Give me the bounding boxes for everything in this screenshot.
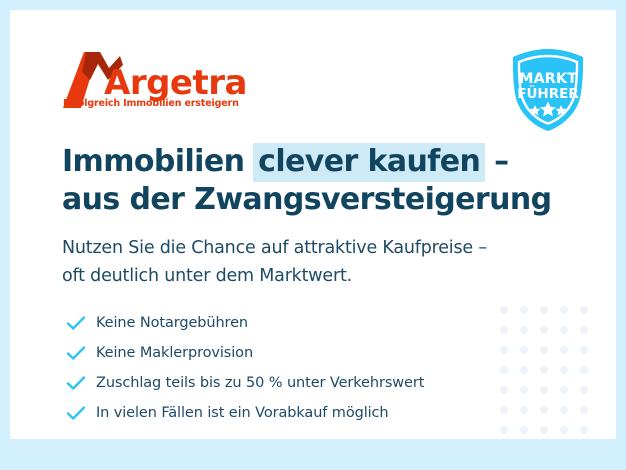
- headline-text-after: –: [484, 144, 508, 179]
- market-leader-badge: MARKT FÜHRER: [504, 46, 592, 134]
- headline-line-2: aus der Zwangsversteigerung: [62, 181, 552, 219]
- decorative-dot: [560, 406, 568, 414]
- decorative-dot: [580, 326, 588, 334]
- decorative-dot: [540, 386, 548, 394]
- decorative-dot: [580, 426, 588, 434]
- subheadline-line-2: oft deutlich unter dem Marktwert.: [62, 262, 487, 290]
- decorative-dot: [540, 326, 548, 334]
- list-item-label: Keine Maklerprovision: [92, 345, 253, 361]
- list-item: Zuschlag teils bis zu 50 % unter Verkehr…: [66, 368, 506, 398]
- decorative-dot: [540, 366, 548, 374]
- decorative-dot: [560, 326, 568, 334]
- decorative-dot: [520, 346, 528, 354]
- list-item: In vielen Fällen ist ein Vorabkauf mögli…: [66, 398, 506, 428]
- decorative-dot: [580, 386, 588, 394]
- check-icon: [66, 372, 92, 394]
- dot-grid-decoration: [500, 306, 616, 439]
- banner-card: Argetra Erfolgreich Immobilien ersteiger…: [10, 10, 616, 439]
- decorative-dot: [520, 406, 528, 414]
- decorative-dot: [520, 426, 528, 434]
- shield-icon: MARKT FÜHRER: [504, 46, 592, 134]
- headline-highlight: clever kaufen: [253, 143, 485, 182]
- list-item-label: In vielen Fällen ist ein Vorabkauf mögli…: [92, 405, 389, 421]
- subheadline-line-1: Nutzen Sie die Chance auf attraktive Kau…: [62, 234, 487, 262]
- decorative-dot: [560, 366, 568, 374]
- promo-banner: Argetra Erfolgreich Immobilien ersteiger…: [0, 0, 626, 470]
- decorative-dot: [580, 406, 588, 414]
- badge-line-1: MARKT: [519, 71, 577, 87]
- decorative-dot: [560, 306, 568, 314]
- badge-line-2: FÜHRER: [517, 84, 579, 102]
- check-icon: [66, 342, 92, 364]
- logo-tagline: Erfolgreich Immobilien ersteigern: [63, 98, 239, 109]
- decorative-dot: [580, 346, 588, 354]
- decorative-dot: [560, 386, 568, 394]
- argetra-logo[interactable]: Argetra Erfolgreich Immobilien ersteiger…: [62, 46, 252, 118]
- decorative-dot: [580, 366, 588, 374]
- decorative-dot: [520, 306, 528, 314]
- list-item-label: Zuschlag teils bis zu 50 % unter Verkehr…: [92, 375, 424, 391]
- check-icon: [66, 312, 92, 334]
- check-icon: [66, 402, 92, 424]
- feature-list: Keine Notargebühren Keine Maklerprovisio…: [66, 308, 506, 428]
- logo-wordmark: Argetra: [104, 66, 247, 100]
- decorative-dot: [540, 306, 548, 314]
- list-item: Keine Maklerprovision: [66, 338, 506, 368]
- decorative-dot: [580, 306, 588, 314]
- decorative-dot: [520, 326, 528, 334]
- list-item: Keine Notargebühren: [66, 308, 506, 338]
- decorative-dot: [540, 406, 548, 414]
- headline: Immobilien clever kaufen – aus der Zwang…: [62, 143, 552, 219]
- headline-text-before: Immobilien: [62, 144, 254, 179]
- decorative-dot: [520, 366, 528, 374]
- decorative-dot: [560, 426, 568, 434]
- decorative-dot: [540, 346, 548, 354]
- decorative-dot: [540, 426, 548, 434]
- list-item-label: Keine Notargebühren: [92, 315, 248, 331]
- subheadline: Nutzen Sie die Chance auf attraktive Kau…: [62, 234, 487, 290]
- headline-line-1: Immobilien clever kaufen –: [62, 143, 552, 181]
- decorative-dot: [520, 386, 528, 394]
- decorative-dot: [560, 346, 568, 354]
